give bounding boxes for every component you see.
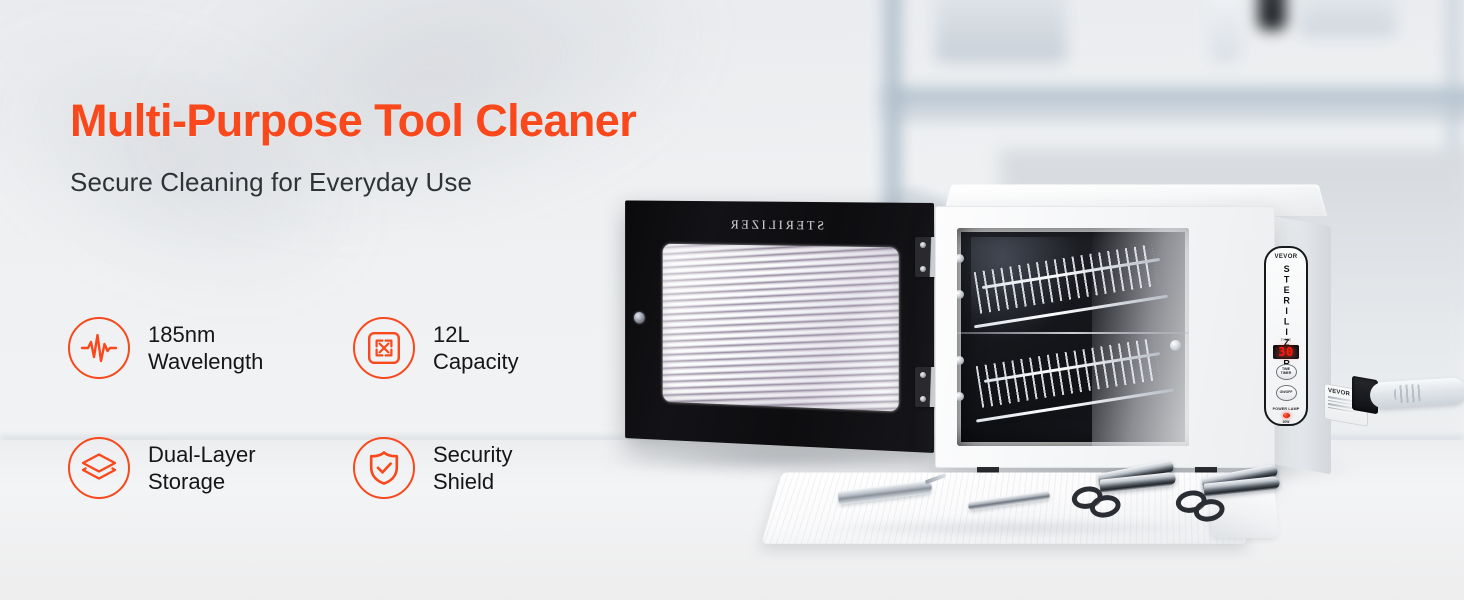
panel-brand-logo: VEVOR xyxy=(1274,254,1297,260)
shelf-item-box xyxy=(936,0,1066,62)
tools-shadow xyxy=(812,520,1212,536)
feature-label-capacity: 12L Capacity xyxy=(433,321,519,376)
page-subtitle: Secure Cleaning for Everyday Use xyxy=(70,167,770,198)
shelf-item-bottle xyxy=(1210,0,1240,62)
layers-icon xyxy=(68,437,130,499)
door-brand-text: STERILIZER xyxy=(625,216,934,235)
shield-check-icon xyxy=(353,437,415,499)
power-cord-ribs xyxy=(1393,384,1424,404)
power-lamp-label: POWER LAMP xyxy=(1273,407,1300,411)
time-button[interactable]: TIME TIMER xyxy=(1276,364,1297,380)
waveform-icon xyxy=(68,317,130,379)
cabinet-front-face xyxy=(935,206,1275,468)
led-display: 30 xyxy=(1273,345,1299,359)
feature-label-storage: Dual-Layer Storage xyxy=(148,441,256,496)
chamber-shelf-divider xyxy=(957,332,1189,334)
shelf-board-upper-edge xyxy=(880,90,1464,120)
feature-item-storage: Dual-Layer Storage xyxy=(68,408,353,528)
sterilizer-chamber xyxy=(957,228,1189,446)
copy-block: Multi-Purpose Tool Cleaner Secure Cleani… xyxy=(70,98,770,198)
chamber-screw-top xyxy=(957,254,964,263)
page-title: Multi-Purpose Tool Cleaner xyxy=(70,98,770,145)
feature-label-shield: Security Shield xyxy=(433,441,512,496)
towel-with-tools xyxy=(772,462,1272,554)
power-indicator-light xyxy=(1283,413,1290,418)
feature-item-shield: Security Shield xyxy=(353,408,638,528)
shelf-item-tray xyxy=(1300,0,1396,36)
panel-title-sub: TIME xyxy=(1281,337,1292,342)
shelf-item-dark-bottle xyxy=(1258,0,1286,30)
feature-label-wavelength: 185nm Wavelength xyxy=(148,321,263,376)
feature-item-capacity: 12L Capacity xyxy=(353,288,638,408)
chamber-screw-low xyxy=(957,356,964,365)
door-latch-icon[interactable] xyxy=(634,312,645,324)
chamber-screw-bottom xyxy=(957,392,964,401)
feature-item-wavelength: 185nm Wavelength xyxy=(68,288,353,408)
led-display-value: 30 xyxy=(1278,345,1293,359)
door-glass-panel xyxy=(663,244,899,412)
power-lamp-wattage: 20W xyxy=(1283,420,1290,424)
feature-list: 185nm Wavelength 12L Capacity xyxy=(68,288,628,528)
panel-title: STERILIZER xyxy=(1281,264,1290,336)
expand-arrows-icon xyxy=(353,317,415,379)
chamber-screw-mid xyxy=(957,290,964,299)
control-panel[interactable]: VEVOR STERILIZER TIME 30 TIME TIMER ON/O… xyxy=(1264,246,1308,426)
sterilizer-door[interactable]: STERILIZER xyxy=(625,200,934,453)
chamber-inner-knob xyxy=(1170,340,1181,351)
power-button[interactable]: ON/OFF xyxy=(1276,385,1297,401)
product-banner: Multi-Purpose Tool Cleaner Secure Cleani… xyxy=(0,0,1464,600)
